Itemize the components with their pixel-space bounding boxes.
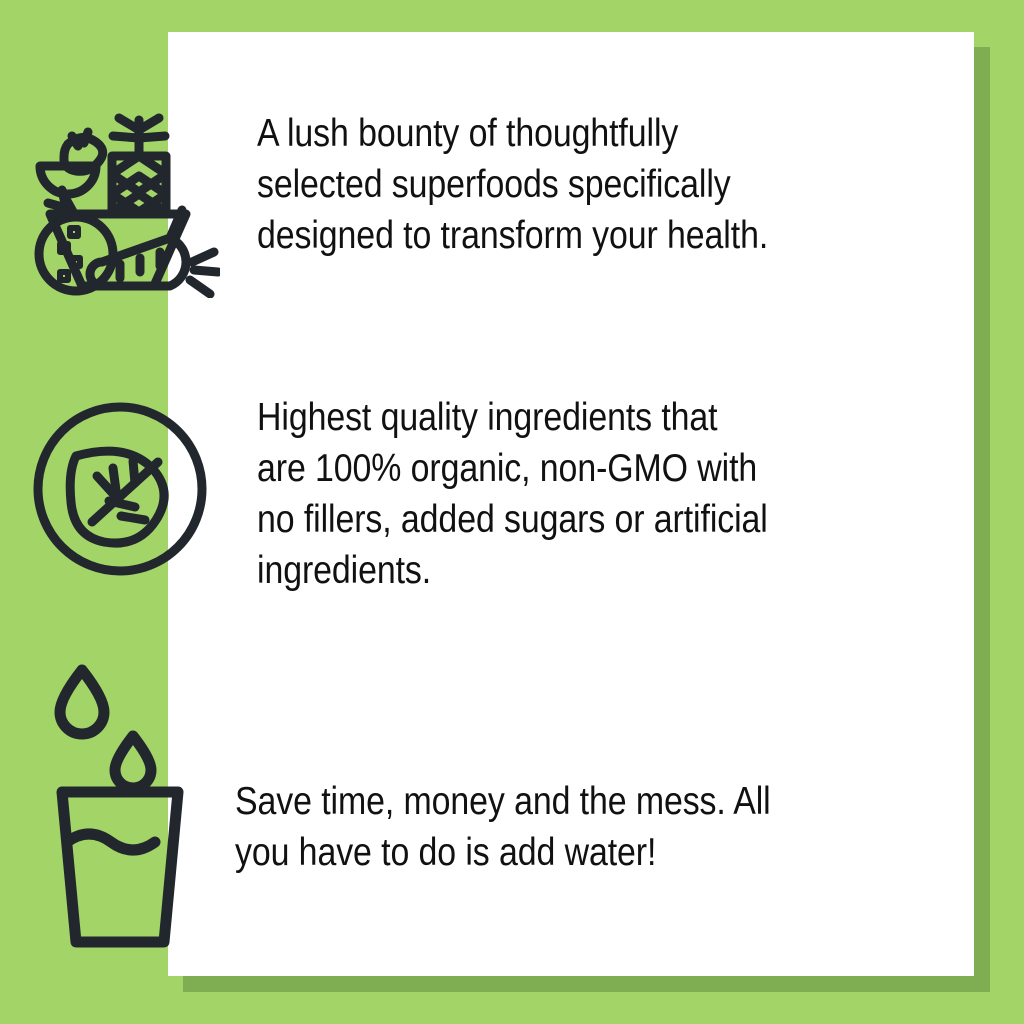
feature-text-superfoods: A lush bounty of thoughtfully selected s… — [257, 108, 932, 261]
feature-row-convenience: Save time, money and the mess. All you h… — [0, 660, 1024, 950]
feature-icon-convenience — [0, 660, 240, 950]
feature-row-superfoods: A lush bounty of thoughtfully selected s… — [0, 108, 1024, 298]
fruit-basket-icon — [20, 108, 220, 298]
feature-row-quality: Highest quality ingredients that are 100… — [0, 392, 1024, 596]
poster-canvas: A lush bounty of thoughtfully selected s… — [0, 0, 1024, 1024]
bowl-shape — [40, 166, 96, 194]
feature-text-quality: Highest quality ingredients that are 100… — [257, 392, 932, 596]
feature-text-convenience: Save time, money and the mess. All you h… — [235, 776, 929, 878]
leaf-shape — [70, 451, 164, 543]
water-droplet-small-shape — [115, 736, 151, 788]
water-droplet-large-shape — [60, 670, 104, 734]
feature-icon-superfoods — [0, 108, 240, 298]
water-glass-drops-icon — [45, 660, 195, 950]
pineapple-shape — [112, 118, 166, 212]
feature-icon-quality — [0, 392, 240, 578]
organic-leaf-badge-icon — [31, 400, 209, 578]
drinking-glass-shape — [62, 792, 178, 942]
